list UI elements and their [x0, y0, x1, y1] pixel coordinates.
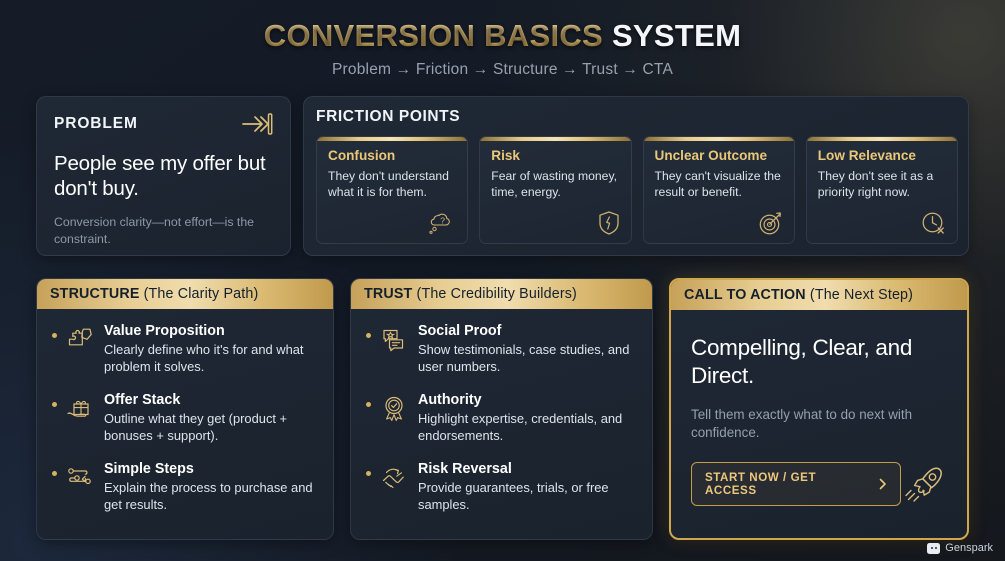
svg-text:?: ?	[440, 215, 445, 225]
friction-card-body: They don't see it as a priority right no…	[818, 168, 946, 200]
award-badge-icon	[379, 394, 409, 424]
friction-card-body: Fear of wasting money, time, energy.	[491, 168, 619, 200]
problem-subtext: Conversion clarity—not effort—is the con…	[54, 214, 273, 247]
list-item-body: Clearly define who it's for and what pro…	[104, 341, 319, 375]
list-item[interactable]: Risk Reversal Provide guarantees, trials…	[363, 461, 638, 513]
list-item[interactable]: Offer Stack Outline what they get (produ…	[49, 392, 319, 444]
structure-header-sub: (The Clarity Path)	[144, 286, 259, 302]
page-header: CONVERSION BASICS SYSTEM Problem → Frict…	[0, 0, 1005, 79]
cta-header-sub: (The Next Step)	[810, 287, 913, 303]
list-item-body: Show testimonials, case studies, and use…	[418, 341, 638, 375]
friction-card-title: Low Relevance	[818, 148, 946, 163]
friction-card-body: They don't understand what it is for the…	[328, 168, 456, 200]
cta-panel-header: CALL TO ACTION (The Next Step)	[671, 280, 967, 310]
list-item-title: Value Proposition	[104, 323, 319, 339]
cta-panel: CALL TO ACTION (The Next Step) Compellin…	[669, 278, 969, 540]
problem-card: PROBLEM People see my offer but don't bu…	[36, 96, 291, 256]
cta-header-bold: CALL TO ACTION	[684, 287, 806, 303]
friction-card-title: Confusion	[328, 148, 456, 163]
list-item-title: Social Proof	[418, 323, 638, 339]
list-item-text: Simple Steps Explain the process to purc…	[104, 461, 319, 513]
bullet-dot-icon	[52, 402, 57, 407]
friction-points-title: FRICTION POINTS	[316, 108, 958, 126]
problem-headline: People see my offer but don't buy.	[54, 151, 273, 201]
friction-card-risk[interactable]: Risk Fear of wasting money, time, energy…	[479, 136, 631, 244]
friction-card-title: Unclear Outcome	[655, 148, 783, 163]
cta-bottom-row: START NOW / GET ACCESS	[691, 462, 947, 506]
puzzle-piece-icon	[65, 325, 95, 355]
trust-header-sub: (The Credibility Builders)	[417, 286, 577, 302]
trust-panel: TRUST (The Credibility Builders) Social …	[350, 278, 653, 540]
chat-star-icon	[379, 325, 409, 355]
trust-items: Social Proof Show testimonials, case stu…	[351, 309, 652, 513]
target-dart-icon	[757, 209, 785, 237]
bullet-dot-icon	[366, 333, 371, 338]
genspark-watermark-label: Genspark	[945, 542, 993, 554]
friction-card-unclear-outcome[interactable]: Unclear Outcome They can't visualize the…	[643, 136, 795, 244]
list-item[interactable]: Simple Steps Explain the process to purc…	[49, 461, 319, 513]
route-steps-icon	[65, 463, 95, 493]
list-item-body: Highlight expertise, credentials, and en…	[418, 410, 638, 444]
rocket-icon	[901, 462, 947, 506]
friction-card-low-relevance[interactable]: Low Relevance They don't see it as a pri…	[806, 136, 958, 244]
friction-points-section: FRICTION POINTS Confusion They don't und…	[303, 96, 969, 256]
arrow-to-line-icon	[239, 111, 273, 137]
problem-label: PROBLEM	[54, 115, 138, 133]
list-item-body: Explain the process to purchase and get …	[104, 479, 319, 513]
list-item[interactable]: Social Proof Show testimonials, case stu…	[363, 323, 638, 375]
structure-header-bold: STRUCTURE	[50, 286, 140, 302]
friction-card-confusion[interactable]: Confusion They don't understand what it …	[316, 136, 468, 244]
list-item-body: Outline what they get (product + bonuses…	[104, 410, 319, 444]
bottom-row: STRUCTURE (The Clarity Path) Value Propo…	[0, 278, 1005, 540]
thought-bubble-question-icon: ?	[428, 210, 458, 237]
list-item-text: Offer Stack Outline what they get (produ…	[104, 392, 319, 444]
list-item-title: Authority	[418, 392, 638, 408]
genspark-logo-icon	[927, 543, 940, 554]
page-title-white: SYSTEM	[612, 18, 741, 53]
chevron-right-icon	[879, 478, 887, 490]
trust-header-bold: TRUST	[364, 286, 412, 302]
bullet-dot-icon	[366, 402, 371, 407]
top-row: PROBLEM People see my offer but don't bu…	[0, 96, 1005, 256]
start-now-button-label: START NOW / GET ACCESS	[705, 471, 871, 497]
trust-panel-header: TRUST (The Credibility Builders)	[351, 279, 652, 309]
page-title-gold: CONVERSION BASICS	[264, 18, 603, 53]
list-item-title: Offer Stack	[104, 392, 319, 408]
list-item-text: Authority Highlight expertise, credentia…	[418, 392, 638, 444]
list-item-body: Provide guarantees, trials, or free samp…	[418, 479, 638, 513]
cta-headline: Compelling, Clear, and Direct.	[691, 334, 947, 390]
start-now-button[interactable]: START NOW / GET ACCESS	[691, 462, 901, 506]
list-item-text: Social Proof Show testimonials, case stu…	[418, 323, 638, 375]
friction-card-title: Risk	[491, 148, 619, 163]
list-item[interactable]: Value Proposition Clearly define who it'…	[49, 323, 319, 375]
friction-card-body: They can't visualize the result or benef…	[655, 168, 783, 200]
page-title: CONVERSION BASICS SYSTEM	[0, 18, 1005, 54]
bullet-dot-icon	[52, 333, 57, 338]
handshake-arrow-icon	[379, 463, 409, 493]
list-item-text: Risk Reversal Provide guarantees, trials…	[418, 461, 638, 513]
bullet-dot-icon	[366, 471, 371, 476]
cracked-shield-icon	[596, 209, 622, 237]
cta-subtext: Tell them exactly what to do next with c…	[691, 406, 947, 442]
genspark-watermark: Genspark	[927, 542, 993, 554]
cta-body: Compelling, Clear, and Direct. Tell them…	[671, 310, 967, 506]
list-item-title: Simple Steps	[104, 461, 319, 477]
clock-x-icon	[920, 209, 948, 237]
list-item-text: Value Proposition Clearly define who it'…	[104, 323, 319, 375]
friction-cards-grid: Confusion They don't understand what it …	[316, 136, 958, 244]
list-item[interactable]: Authority Highlight expertise, credentia…	[363, 392, 638, 444]
structure-panel: STRUCTURE (The Clarity Path) Value Propo…	[36, 278, 334, 540]
bullet-dot-icon	[52, 471, 57, 476]
gift-in-hand-icon	[65, 394, 95, 424]
structure-panel-header: STRUCTURE (The Clarity Path)	[37, 279, 333, 309]
problem-card-header: PROBLEM	[54, 111, 273, 137]
structure-items: Value Proposition Clearly define who it'…	[37, 309, 333, 513]
list-item-title: Risk Reversal	[418, 461, 638, 477]
page-subtitle: Problem → Friction → Structure → Trust →…	[0, 61, 1005, 79]
